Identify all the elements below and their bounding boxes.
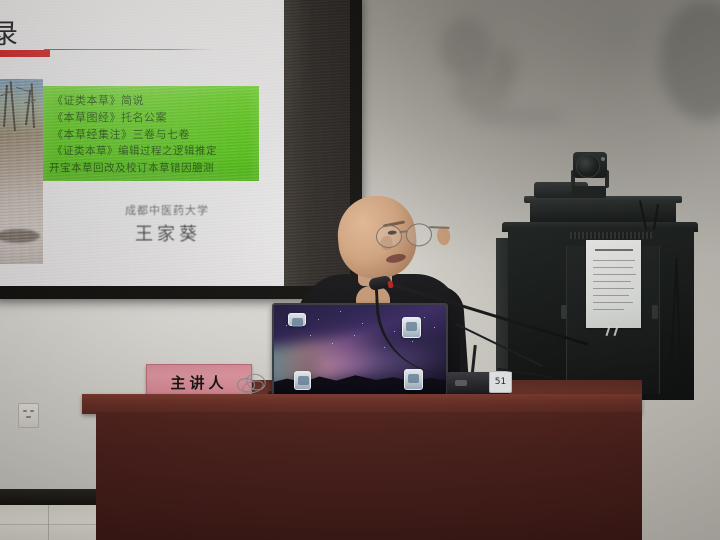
wall-smudge — [492, 46, 518, 86]
slide-photo — [0, 79, 43, 264]
outline-item: 开宝本草回改及校订本草错因臆测 — [49, 160, 214, 175]
mic-mute-button[interactable] — [455, 380, 467, 386]
cabinet-notice-paper — [586, 240, 641, 328]
slide-title-rule — [0, 50, 50, 57]
outline-item: 《证类本草》简说 — [52, 92, 144, 108]
laptop-sticker — [404, 369, 423, 390]
name-plate-label: 主讲人 — [170, 372, 227, 393]
slide-title: 小录 — [0, 12, 24, 51]
projection-screen: 小录 《证类本草》简说 《本草图经》托名公案 《本草经集注》三卷与七卷 — [0, 0, 350, 286]
podium-top — [82, 394, 642, 414]
podium-front-panel — [96, 412, 642, 540]
mic-id-tag: 51 — [489, 371, 512, 393]
slide-organization: 成都中医药大学 — [125, 202, 209, 218]
wall-smudge — [440, 18, 492, 78]
power-outlet-icon — [18, 403, 39, 428]
outline-item: 《本草经集注》三卷与七卷 — [52, 126, 190, 142]
presentation-slide: 小录 《证类本草》简说 《本草图经》托名公案 《本草经集注》三卷与七卷 — [0, 0, 284, 286]
cabinet-handle[interactable] — [652, 305, 658, 319]
cabinet-handle[interactable] — [561, 305, 567, 319]
cabinet-vent — [570, 232, 652, 239]
camera-mount — [572, 186, 606, 198]
photo-scene: 小录 《证类本草》简说 《本草图经》托名公案 《本草经集注》三卷与七卷 — [0, 0, 720, 540]
camera-led-icon — [601, 157, 605, 161]
outline-item: 《本草图经》托名公案 — [52, 109, 167, 125]
floor-seam — [48, 505, 49, 540]
desk-cable-coil — [237, 374, 267, 394]
laptop-sticker — [294, 371, 311, 390]
slide-title-hairline — [44, 49, 214, 50]
outline-item: 《证类本草》编辑过程之逻辑推定 — [52, 143, 217, 158]
wall-smudge — [470, 108, 566, 126]
slide-outline-band: 《证类本草》简说 《本草图经》托名公案 《本草经集注》三卷与七卷 《证类本草》编… — [43, 86, 259, 181]
mouth — [385, 253, 406, 265]
slide-author: 王家葵 — [135, 220, 201, 246]
laptop-sticker — [288, 313, 306, 326]
camera-lens-icon — [576, 154, 600, 178]
head — [335, 193, 420, 281]
